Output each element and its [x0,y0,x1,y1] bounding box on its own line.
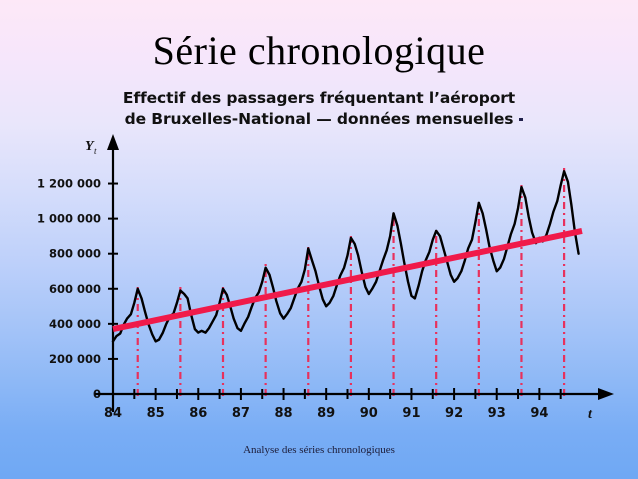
y-axis-tick-label: 800 000 [49,247,101,261]
y-axis-arrowhead [107,134,119,150]
x-axis-name-label: t [588,407,593,422]
x-axis-tick-label: 86 [189,406,207,421]
y-axis-tick-label: 400 000 [49,317,101,331]
slide-footer: Analyse des séries chronologiques [0,444,638,456]
dot-artifact [519,118,523,121]
x-axis-tick-label: 92 [445,406,463,421]
chart-subtitle: Effectif des passagers fréquentant l’aér… [0,88,638,131]
y-axis-tick-labels: 0200 000400 000600 000800 0001 000 0001 … [37,177,101,401]
x-axis-tick-label: 93 [488,406,506,421]
y-axis-name-subscript: t [94,146,97,156]
x-axis-tick-label: 90 [360,406,378,421]
x-axis-tick-label: 85 [147,406,165,421]
y-axis-tick-label: 200 000 [49,352,101,366]
y-axis-tick-label: 1 000 000 [37,212,101,226]
x-axis-tick-label: 88 [274,406,292,421]
x-axis-tick-labels: 8485868788899091929394 [104,406,548,421]
page-title: Série chronologique [0,30,638,72]
x-axis-arrowhead [598,388,614,400]
y-axis-tick-label: 1 200 000 [37,177,101,191]
x-axis-tick-label: 89 [317,406,335,421]
y-axis-tick-label: 600 000 [49,282,101,296]
trend-line [113,231,582,329]
x-axis-tick-label: 87 [232,406,250,421]
x-axis-tick-label: 94 [530,406,548,421]
time-series-chart: 0200 000400 000600 000800 0001 000 0001 … [0,128,638,423]
chart-subtitle-line-1: Effectif des passagers fréquentant l’aér… [0,88,638,109]
x-axis-tick-label: 91 [402,406,420,421]
slide: Série chronologique Effectif des passage… [0,0,638,479]
